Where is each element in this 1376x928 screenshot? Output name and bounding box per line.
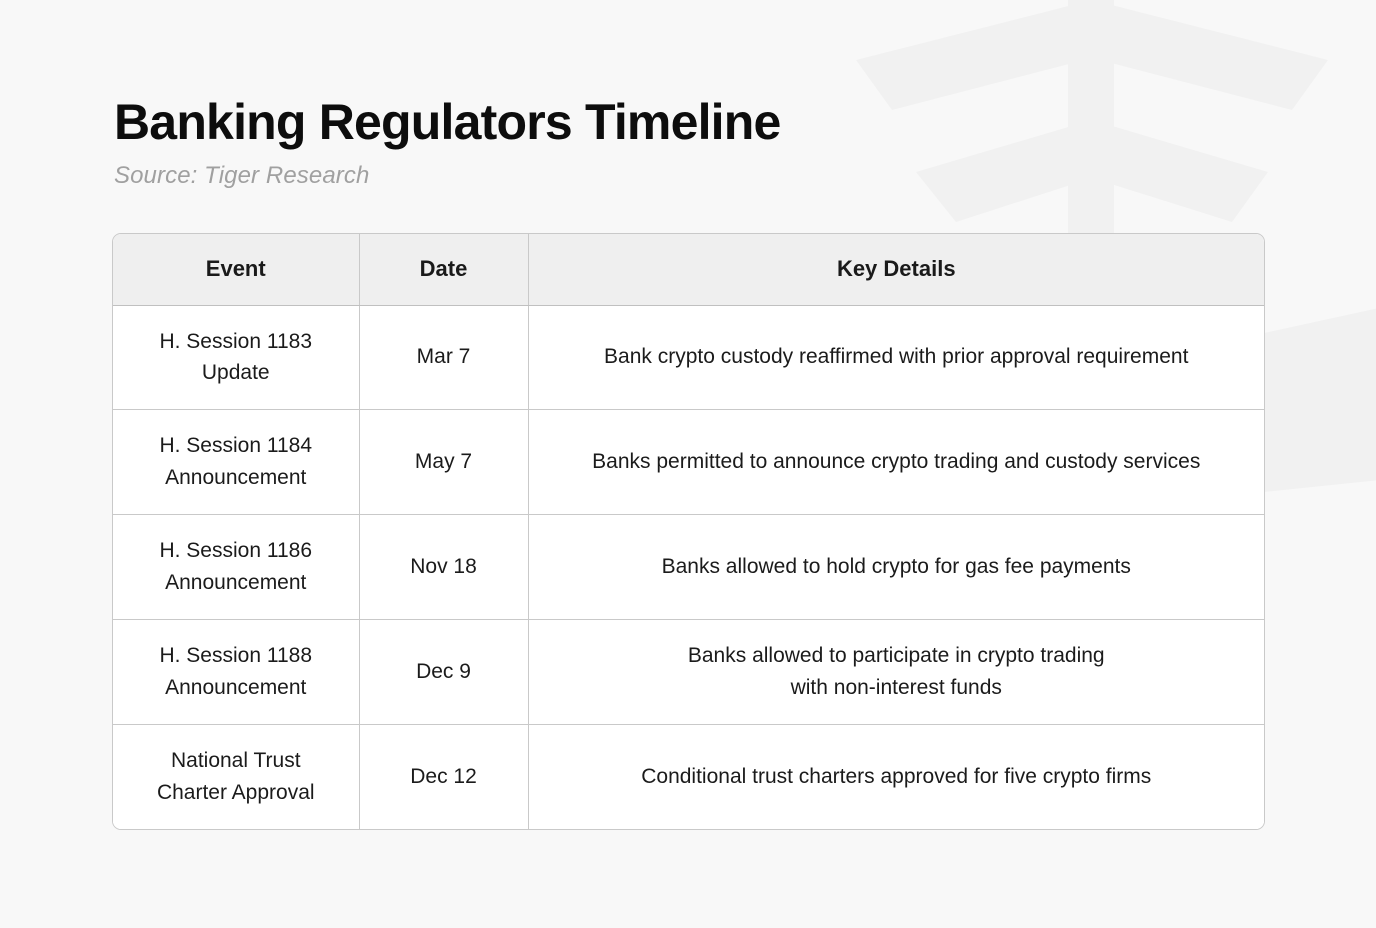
table-row: H. Session 1186Announcement Nov 18 Banks… [113, 515, 1264, 620]
table-header: Event Date Key Details [113, 234, 1264, 305]
cell-detail: Banks permitted to announce crypto tradi… [528, 410, 1264, 515]
table-row: H. Session 1183Update Mar 7 Bank crypto … [113, 305, 1264, 410]
cell-detail: Bank crypto custody reaffirmed with prio… [528, 305, 1264, 410]
cell-date: May 7 [359, 410, 528, 515]
cell-date: Dec 9 [359, 619, 528, 724]
page-title: Banking Regulators Timeline [114, 96, 1274, 148]
column-header-event: Event [113, 234, 359, 305]
cell-event: National TrustCharter Approval [113, 724, 359, 828]
cell-event: H. Session 1183Update [113, 305, 359, 410]
table-row: H. Session 1184Announcement May 7 Banks … [113, 410, 1264, 515]
cell-date: Mar 7 [359, 305, 528, 410]
cell-event: H. Session 1186Announcement [113, 515, 359, 620]
column-header-detail: Key Details [528, 234, 1264, 305]
timeline-table: Event Date Key Details H. Session 1183Up… [113, 234, 1264, 829]
cell-date: Dec 12 [359, 724, 528, 828]
table-row: National TrustCharter Approval Dec 12 Co… [113, 724, 1264, 828]
cell-detail: Banks allowed to participate in crypto t… [528, 619, 1264, 724]
table-row: H. Session 1188Announcement Dec 9 Banks … [113, 619, 1264, 724]
cell-detail: Conditional trust charters approved for … [528, 724, 1264, 828]
cell-date: Nov 18 [359, 515, 528, 620]
cell-detail: Banks allowed to hold crypto for gas fee… [528, 515, 1264, 620]
table-body: H. Session 1183Update Mar 7 Bank crypto … [113, 305, 1264, 829]
cell-event: H. Session 1184Announcement [113, 410, 359, 515]
timeline-table-container: Event Date Key Details H. Session 1183Up… [112, 233, 1265, 830]
column-header-date: Date [359, 234, 528, 305]
table-header-row: Event Date Key Details [113, 234, 1264, 305]
cell-event: H. Session 1188Announcement [113, 619, 359, 724]
source-label: Source: Tiger Research [114, 162, 1274, 191]
header-block: Banking Regulators Timeline Source: Tige… [114, 96, 1274, 191]
